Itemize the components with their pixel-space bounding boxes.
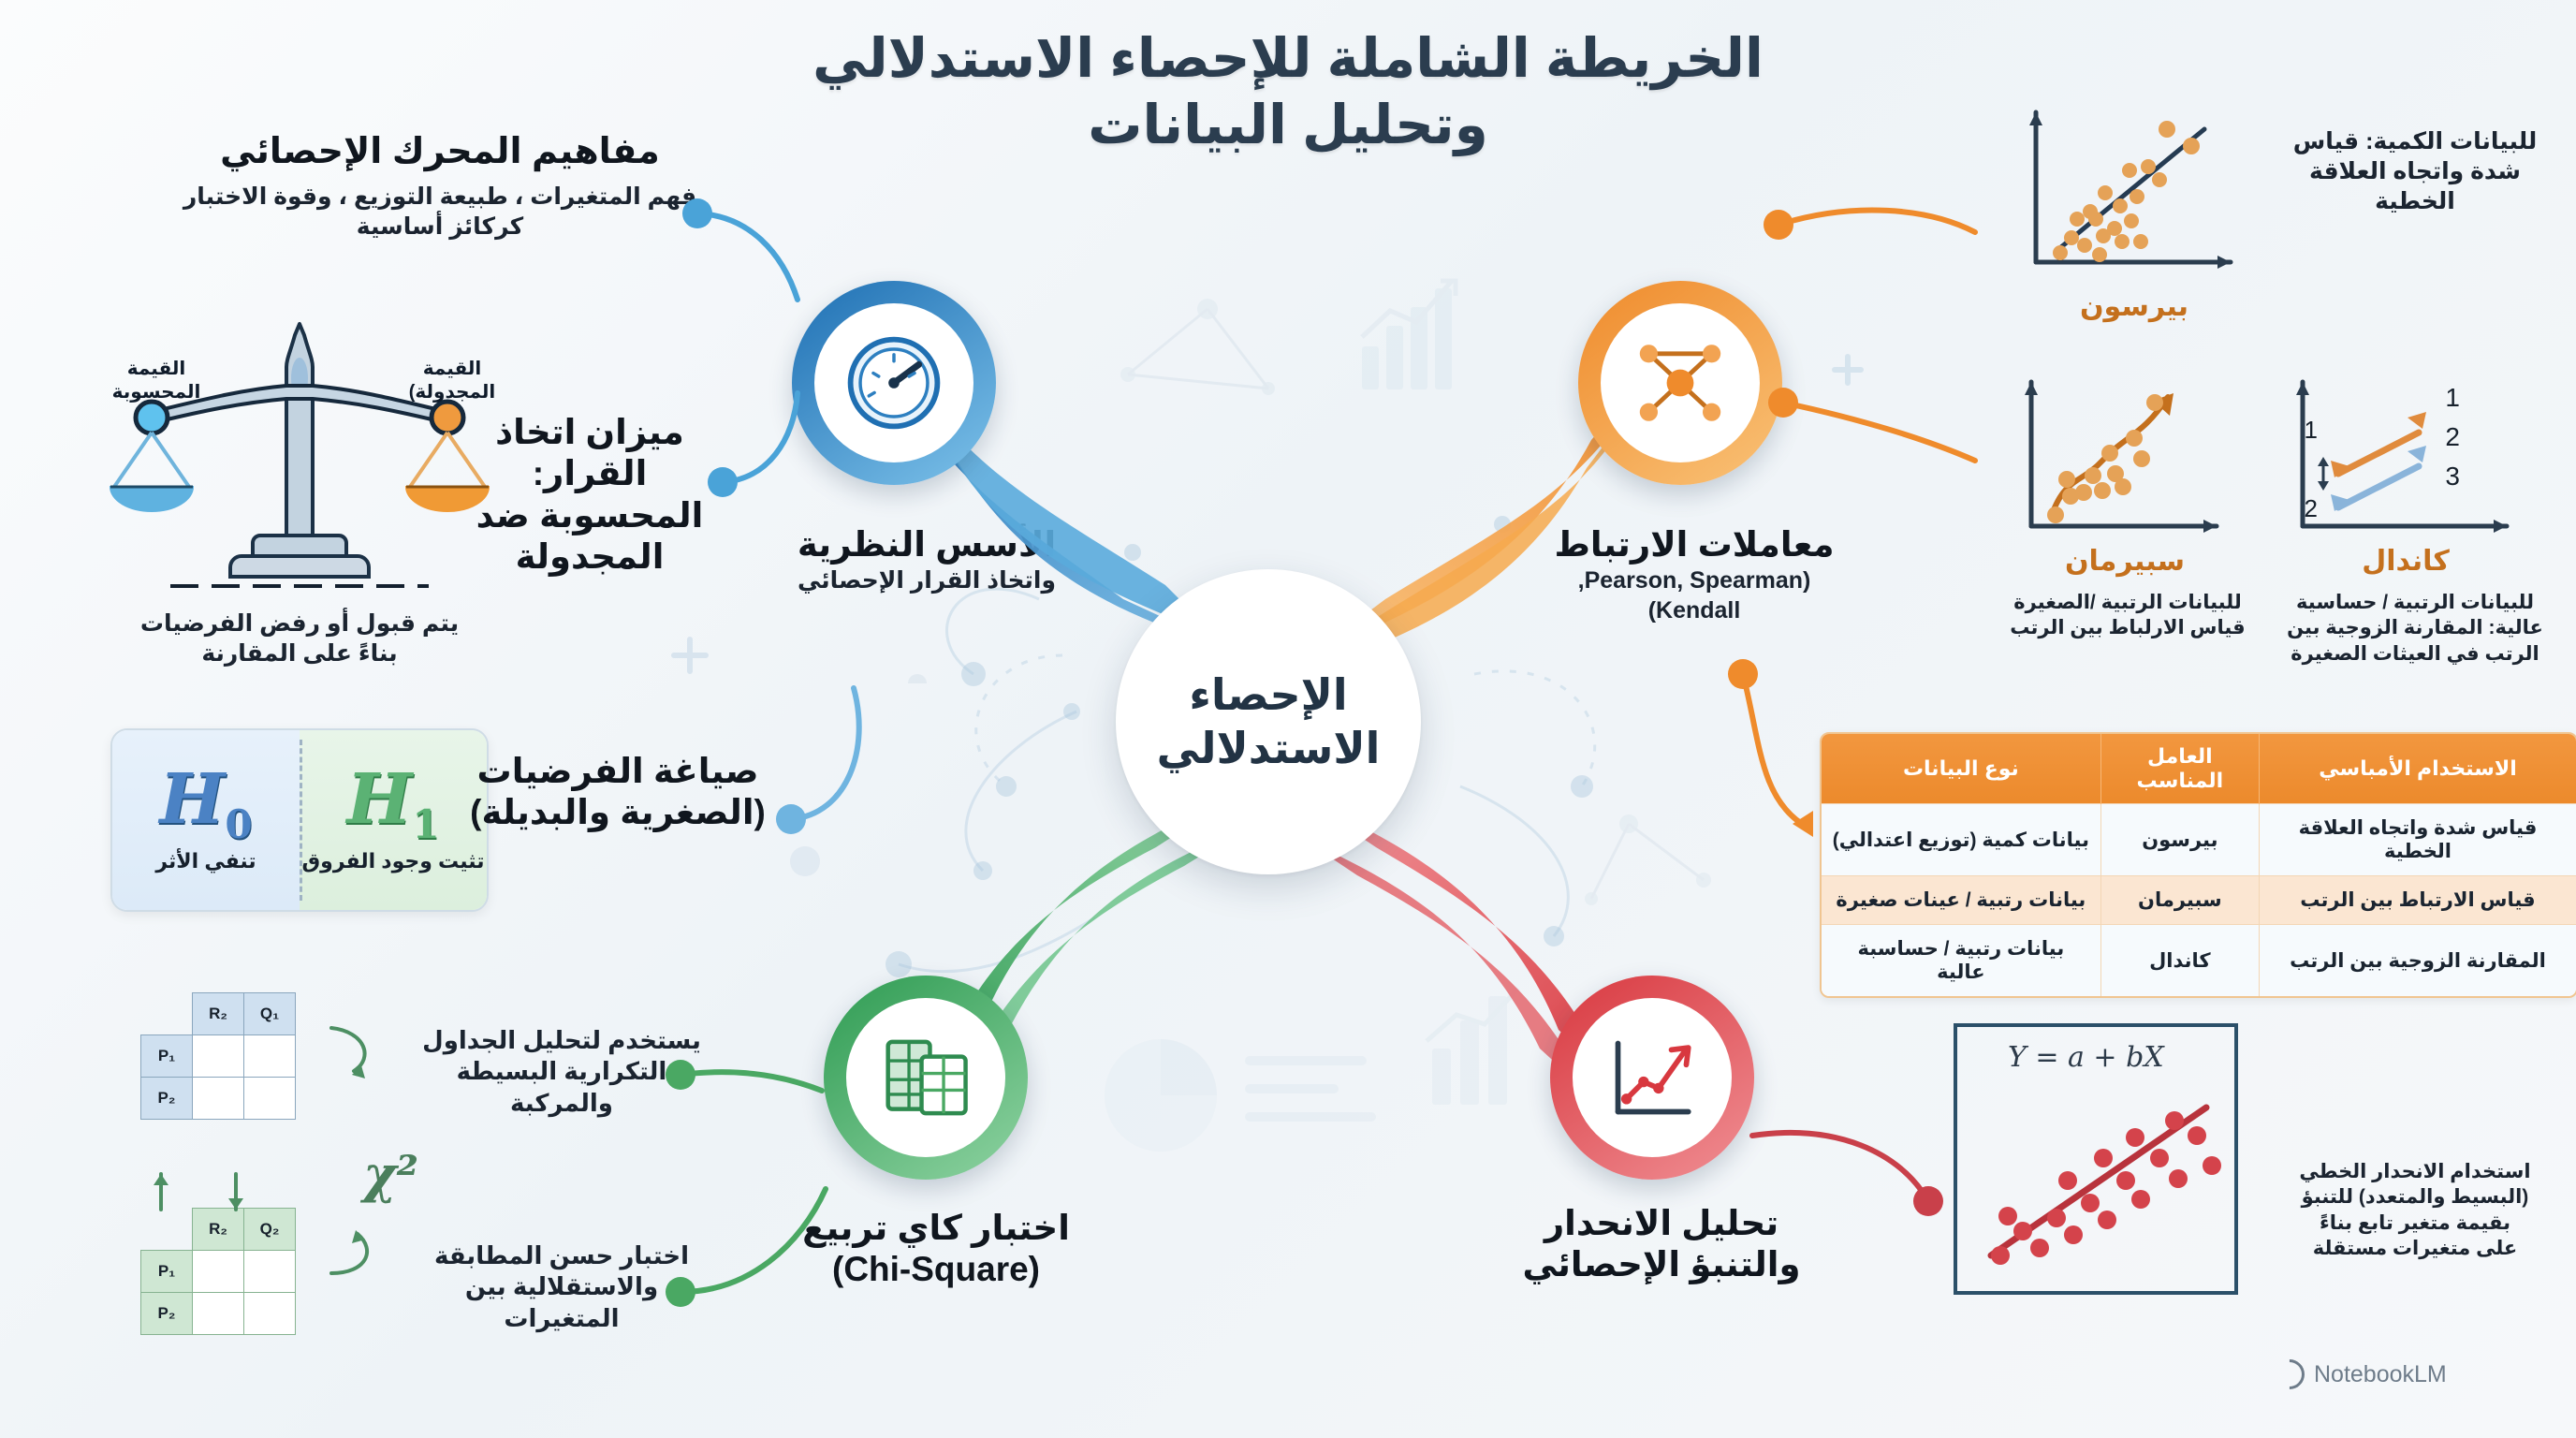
leader-lines [0,0,2576,1438]
